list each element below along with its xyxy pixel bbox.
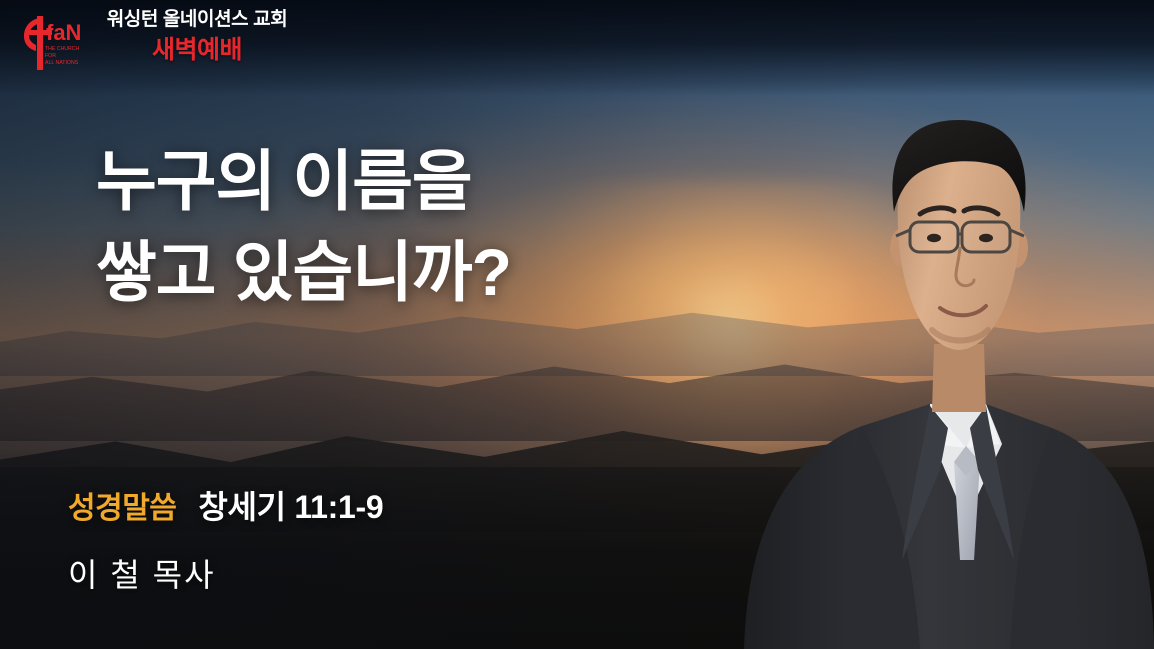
sermon-title: 누구의 이름을 쌓고 있습니까? xyxy=(96,136,736,318)
service-name: 새벽예배 xyxy=(62,35,332,65)
scripture-reference: 창세기 11:1-9 xyxy=(198,482,383,528)
sermon-title-line-2: 쌓고 있습니까? xyxy=(96,227,736,318)
scripture-block: 성경말씀 창세기 11:1-9 xyxy=(68,482,383,528)
header-block: 워싱턴 올네이션스 교회 새벽예배 xyxy=(62,8,332,65)
sermon-title-slide: faN THE CHURCH FOR ALL NATIONS 워싱턴 올네이션스… xyxy=(0,0,1154,649)
sermon-title-line-1: 누구의 이름을 xyxy=(96,136,736,227)
speaker-name: 이 철 목사 xyxy=(68,550,216,596)
svg-text:FOR: FOR xyxy=(45,53,56,59)
church-name: 워싱턴 올네이션스 교회 xyxy=(62,8,332,32)
scripture-label: 성경말씀 xyxy=(68,483,176,527)
pastor-portrait xyxy=(734,0,1154,649)
